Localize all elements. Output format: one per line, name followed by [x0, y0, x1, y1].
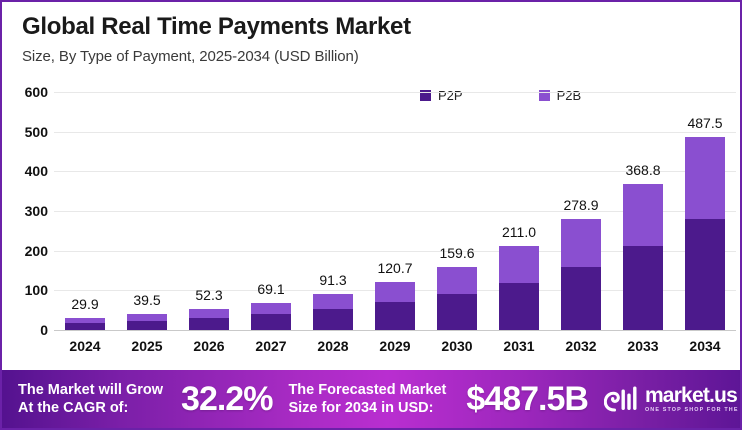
market-us-logo[interactable]: market.us ONE STOP SHOP FOR THE REPORTS	[604, 385, 742, 413]
bar-series-container: 29.939.552.369.191.3120.7159.6211.0278.9…	[54, 80, 736, 332]
bar-segment-p2p-2026[interactable]	[189, 318, 229, 330]
x-axis-tick-2029: 2029	[369, 338, 421, 354]
x-axis-tick-2034: 2034	[679, 338, 731, 354]
bar-group-2028[interactable]: 91.3	[307, 80, 359, 332]
cagr-value: 32.2%	[181, 380, 272, 419]
x-axis-tick-2030: 2030	[431, 338, 483, 354]
bar-segment-p2p-2028[interactable]	[313, 309, 353, 330]
bar-group-2031[interactable]: 211.0	[493, 80, 545, 332]
forecast-caption: The Forecasted Market Size for 2034 in U…	[288, 381, 446, 417]
bar-segment-p2p-2030[interactable]	[437, 294, 477, 330]
forecast-caption-line1: The Forecasted Market	[288, 382, 446, 398]
forecast-value: $487.5B	[466, 380, 588, 419]
plot-area: 6005004003002001000 29.939.552.369.191.3…	[2, 80, 742, 332]
bar-stack-2028	[313, 294, 353, 330]
bar-segment-p2p-2034[interactable]	[685, 219, 725, 330]
bar-value-label-2031: 211.0	[479, 224, 559, 240]
infographic-root: Global Real Time Payments Market Size, B…	[0, 0, 742, 430]
bar-group-2029[interactable]: 120.7	[369, 80, 421, 332]
bar-segment-p2b-2032[interactable]	[561, 219, 601, 267]
x-axis-tick-2028: 2028	[307, 338, 359, 354]
cagr-caption-line2: At the CAGR of:	[18, 400, 128, 416]
cagr-caption-line1: The Market will Grow	[18, 382, 163, 398]
bar-stack-2025	[127, 314, 167, 330]
bar-group-2030[interactable]: 159.6	[431, 80, 483, 332]
y-axis-tick-300: 300	[25, 203, 48, 219]
chart-header: Global Real Time Payments Market Size, B…	[2, 2, 742, 65]
bar-segment-p2p-2025[interactable]	[127, 321, 167, 330]
page-title: Global Real Time Payments Market	[22, 14, 742, 40]
bar-segment-p2b-2025[interactable]	[127, 314, 167, 321]
bar-value-label-2029: 120.7	[355, 260, 435, 276]
bar-stack-2029	[375, 282, 415, 330]
bar-segment-p2p-2031[interactable]	[499, 283, 539, 330]
bar-segment-p2p-2024[interactable]	[65, 323, 105, 330]
logo-tagline: ONE STOP SHOP FOR THE REPORTS	[645, 408, 742, 413]
bar-value-label-2033: 368.8	[603, 162, 683, 178]
y-axis-tick-500: 500	[25, 124, 48, 140]
y-axis-tick-400: 400	[25, 163, 48, 179]
bar-segment-p2b-2030[interactable]	[437, 267, 477, 294]
bar-value-label-2032: 278.9	[541, 197, 621, 213]
bar-group-2033[interactable]: 368.8	[617, 80, 669, 332]
x-axis-tick-2033: 2033	[617, 338, 669, 354]
x-axis-tick-2031: 2031	[493, 338, 545, 354]
bar-group-2025[interactable]: 39.5	[121, 80, 173, 332]
bar-segment-p2b-2031[interactable]	[499, 246, 539, 283]
bar-group-2034[interactable]: 487.5	[679, 80, 731, 332]
bar-stack-2031	[499, 246, 539, 330]
bar-stack-2034	[685, 137, 725, 330]
market-us-logo-text: market.us ONE STOP SHOP FOR THE REPORTS	[645, 385, 742, 413]
bar-segment-p2p-2027[interactable]	[251, 314, 291, 330]
bar-segment-p2b-2034[interactable]	[685, 137, 725, 219]
bar-segment-p2b-2026[interactable]	[189, 309, 229, 318]
y-axis-tick-0: 0	[40, 322, 48, 338]
y-axis-tick-200: 200	[25, 243, 48, 259]
x-axis-tick-2024: 2024	[59, 338, 111, 354]
bar-value-label-2030: 159.6	[417, 245, 497, 261]
bar-segment-p2b-2033[interactable]	[623, 184, 663, 246]
bar-stack-2026	[189, 309, 229, 330]
y-axis-tick-600: 600	[25, 84, 48, 100]
bar-segment-p2b-2027[interactable]	[251, 303, 291, 315]
bar-segment-p2p-2033[interactable]	[623, 246, 663, 330]
cagr-caption: The Market will Grow At the CAGR of:	[18, 381, 163, 417]
bar-group-2032[interactable]: 278.9	[555, 80, 607, 332]
forecast-caption-line2: Size for 2034 in USD:	[288, 400, 433, 416]
x-axis-tick-2025: 2025	[121, 338, 173, 354]
x-axis: 2024202520262027202820292030203120322033…	[54, 338, 736, 354]
bar-group-2026[interactable]: 52.3	[183, 80, 235, 332]
bar-group-2024[interactable]: 29.9	[59, 80, 111, 332]
bar-segment-p2b-2029[interactable]	[375, 282, 415, 302]
x-axis-tick-2032: 2032	[555, 338, 607, 354]
y-axis: 6005004003002001000	[2, 80, 54, 332]
bar-group-2027[interactable]: 69.1	[245, 80, 297, 332]
bar-stack-2027	[251, 303, 291, 330]
x-axis-tick-2027: 2027	[245, 338, 297, 354]
logo-wordmark: market.us	[645, 385, 742, 406]
summary-banner: The Market will Grow At the CAGR of: 32.…	[2, 370, 742, 428]
market-us-logo-mark-icon	[604, 386, 638, 412]
chart-subtitle: Size, By Type of Payment, 2025-2034 (USD…	[22, 48, 742, 65]
bar-segment-p2b-2028[interactable]	[313, 294, 353, 309]
bar-stack-2032	[561, 219, 601, 330]
bar-stack-2033	[623, 184, 663, 330]
bar-value-label-2034: 487.5	[665, 115, 742, 131]
bar-stack-2024	[65, 318, 105, 330]
bar-segment-p2p-2029[interactable]	[375, 302, 415, 330]
x-axis-tick-2026: 2026	[183, 338, 235, 354]
bar-stack-2030	[437, 267, 477, 330]
bar-segment-p2p-2032[interactable]	[561, 267, 601, 330]
